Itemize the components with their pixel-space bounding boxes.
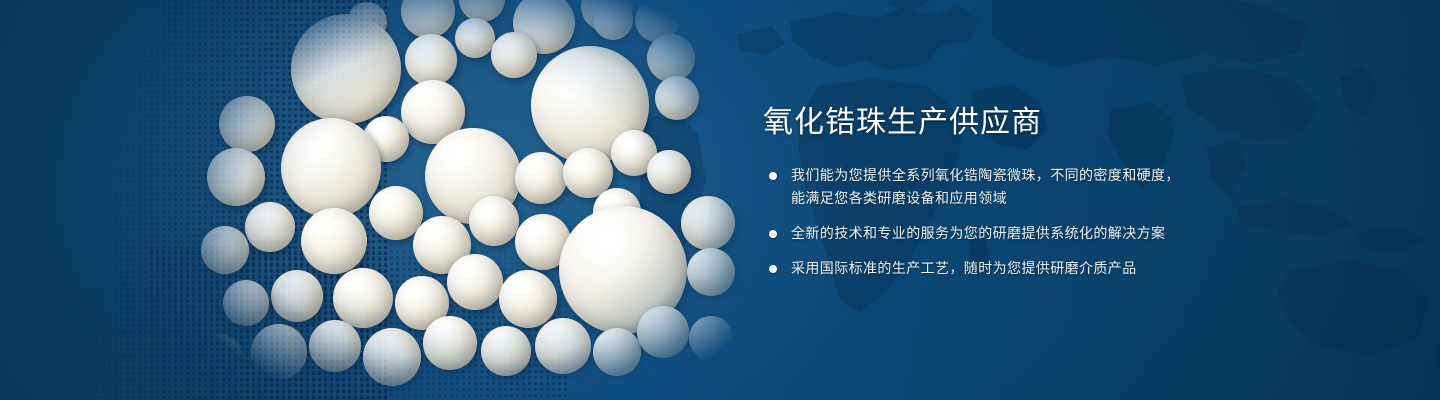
list-item: 全新的技术和专业的服务为您的研磨提供系统化的解决方案 [763,222,1263,245]
bullet-dot-icon [769,230,777,238]
list-item: 采用国际标准的生产工艺，随时为您提供研磨介质产品 [763,257,1263,280]
bullet-dot-icon [769,265,777,273]
banner-copy: 氧化锆珠生产供应商 我们能为您提供全系列氧化锆陶瓷微珠，不同的密度和硬度， 能满… [763,104,1263,280]
list-item-line: 能满足您各类研磨设备和应用领域 [791,187,1263,210]
page-title: 氧化锆珠生产供应商 [763,104,1263,142]
list-item-line: 全新的技术和专业的服务为您的研磨提供系统化的解决方案 [791,222,1263,245]
bullet-dot-icon [769,172,777,180]
list-item-line: 我们能为您提供全系列氧化锆陶瓷微珠，不同的密度和硬度， [791,164,1263,187]
hero-banner: 氧化锆珠生产供应商 我们能为您提供全系列氧化锆陶瓷微珠，不同的密度和硬度， 能满… [0,0,1440,400]
list-item: 我们能为您提供全系列氧化锆陶瓷微珠，不同的密度和硬度， 能满足您各类研磨设备和应… [763,164,1263,210]
feature-list: 我们能为您提供全系列氧化锆陶瓷微珠，不同的密度和硬度， 能满足您各类研磨设备和应… [763,164,1263,280]
list-item-line: 采用国际标准的生产工艺，随时为您提供研磨介质产品 [791,257,1263,280]
